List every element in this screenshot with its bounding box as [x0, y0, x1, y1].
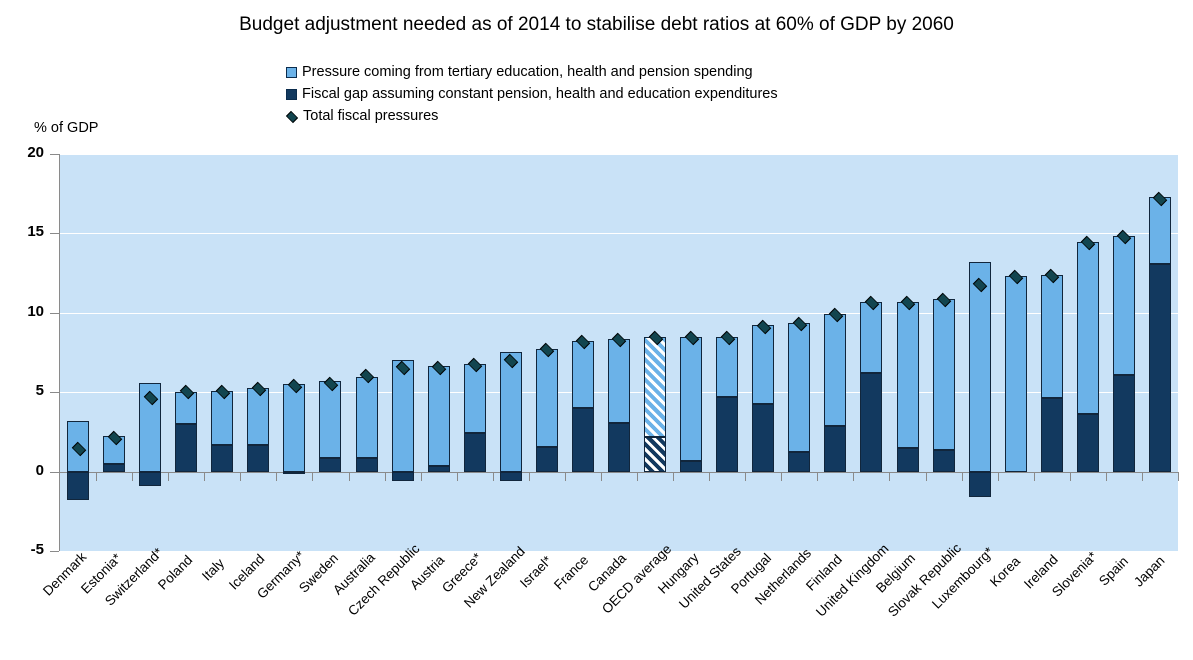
y-axis-title: % of GDP — [34, 120, 98, 136]
y-tick-10 — [50, 313, 59, 314]
total-fiscal-pressure-marker[interactable] — [251, 382, 266, 394]
bar-series-container — [60, 154, 1178, 551]
bar-segment-fiscal-gap[interactable] — [67, 472, 89, 501]
bar-group[interactable] — [204, 154, 240, 551]
x-tick — [709, 472, 710, 481]
total-fiscal-pressure-marker[interactable] — [648, 331, 663, 343]
total-fiscal-pressure-marker[interactable] — [720, 331, 735, 343]
total-fiscal-pressure-marker[interactable] — [323, 377, 338, 389]
bar-segment-pressure[interactable] — [716, 337, 738, 397]
bar-segment-fiscal-gap[interactable] — [824, 426, 846, 472]
bar-segment-fiscal-gap[interactable] — [356, 458, 378, 471]
diamond-marker-icon — [286, 110, 298, 122]
bar-group[interactable] — [1034, 154, 1070, 551]
bar-segment-fiscal-gap[interactable] — [933, 450, 955, 471]
bar-segment-pressure[interactable] — [536, 349, 558, 447]
bar-group[interactable] — [168, 154, 204, 551]
bar-group[interactable] — [493, 154, 529, 551]
total-fiscal-pressure-marker[interactable] — [828, 308, 843, 320]
x-axis-label-text: Slovenia* — [1049, 549, 1100, 600]
bar-group[interactable] — [1070, 154, 1106, 551]
bar-group[interactable] — [421, 154, 457, 551]
bar-segment-pressure[interactable] — [1149, 197, 1171, 264]
bar-segment-fiscal-gap[interactable] — [103, 464, 125, 472]
total-fiscal-pressure-marker[interactable] — [972, 278, 987, 290]
legend-item-total: Total fiscal pressures — [286, 106, 778, 126]
bar-group[interactable] — [709, 154, 745, 551]
bar-segment-pressure[interactable] — [572, 341, 594, 408]
bar-group[interactable] — [745, 154, 781, 551]
y-tick-label-20: 20 — [0, 144, 44, 161]
x-tick — [1070, 472, 1071, 481]
bar-group[interactable] — [240, 154, 276, 551]
bar-segment-pressure[interactable] — [1005, 276, 1027, 471]
bar-segment-pressure[interactable] — [897, 302, 919, 447]
x-tick — [421, 472, 422, 481]
x-tick — [312, 472, 313, 481]
x-tick — [962, 472, 963, 481]
bar-segment-pressure[interactable] — [500, 352, 522, 472]
bar-segment-fiscal-gap[interactable] — [500, 472, 522, 482]
bar-group[interactable] — [96, 154, 132, 551]
total-fiscal-pressure-marker[interactable] — [900, 296, 915, 308]
x-tick — [926, 472, 927, 481]
bar-segment-pressure[interactable] — [356, 377, 378, 458]
x-axis-label-text: Italy — [199, 555, 227, 583]
total-fiscal-pressure-marker[interactable] — [1008, 270, 1023, 282]
total-fiscal-pressure-marker[interactable] — [684, 331, 699, 343]
x-tick — [889, 472, 890, 481]
total-fiscal-pressure-marker[interactable] — [936, 293, 951, 305]
y-tick-label-0: 0 — [0, 462, 44, 479]
x-tick — [457, 472, 458, 481]
bar-segment-fiscal-gap[interactable] — [247, 445, 269, 471]
bar-group[interactable] — [962, 154, 998, 551]
bar-segment-fiscal-gap[interactable] — [860, 373, 882, 471]
bar-segment-fiscal-gap[interactable] — [464, 433, 486, 471]
x-axis-ticks — [60, 472, 1178, 473]
bar-group[interactable] — [132, 154, 168, 551]
x-tick — [1142, 472, 1143, 481]
y-tick-label-15: 15 — [0, 223, 44, 240]
x-tick — [132, 472, 133, 481]
bar-segment-fiscal-gap[interactable] — [1113, 375, 1135, 472]
total-fiscal-pressure-marker[interactable] — [864, 296, 879, 308]
bar-group[interactable] — [853, 154, 889, 551]
bar-group[interactable] — [889, 154, 925, 551]
y-tick-5 — [50, 392, 59, 393]
total-fiscal-pressure-marker[interactable] — [287, 379, 302, 391]
bar-segment-fiscal-gap[interactable] — [680, 461, 702, 471]
x-tick — [385, 472, 386, 481]
x-tick — [817, 472, 818, 481]
bar-group[interactable] — [529, 154, 565, 551]
bar-segment-pressure[interactable] — [247, 388, 269, 445]
bar-segment-pressure[interactable] — [608, 339, 630, 423]
bar-segment-pressure[interactable] — [788, 323, 810, 452]
x-tick — [493, 472, 494, 481]
x-axis-label: France — [551, 552, 591, 592]
x-tick — [1034, 472, 1035, 481]
light-square-swatch-icon — [286, 67, 297, 78]
bar-segment-fiscal-gap[interactable] — [969, 472, 991, 497]
bar-segment-pressure[interactable] — [464, 364, 486, 434]
x-tick — [745, 472, 746, 481]
y-tick-label-5: 5 — [0, 382, 44, 399]
x-axis-label-text: France — [551, 552, 591, 592]
bar-segment-fiscal-gap[interactable] — [139, 472, 161, 486]
bar-segment-fiscal-gap[interactable] — [1077, 414, 1099, 472]
legend-item-fiscal-gap: Fiscal gap assuming constant pension, he… — [286, 84, 778, 104]
total-fiscal-pressure-marker[interactable] — [1044, 269, 1059, 281]
bar-segment-pressure[interactable] — [1077, 242, 1099, 414]
bar-segment-fiscal-gap[interactable] — [572, 408, 594, 472]
x-tick — [601, 472, 602, 481]
total-fiscal-pressure-marker[interactable] — [359, 369, 374, 381]
x-axis-label: Denmark — [40, 549, 89, 598]
x-tick — [637, 472, 638, 481]
x-axis-label-text: Spain — [1096, 553, 1131, 588]
x-axis-label-text: Denmark — [40, 549, 89, 598]
x-tick — [529, 472, 530, 481]
total-fiscal-pressure-marker[interactable] — [1116, 230, 1131, 242]
x-tick — [1178, 472, 1179, 481]
bar-group[interactable] — [998, 154, 1034, 551]
x-tick — [998, 472, 999, 481]
total-fiscal-pressure-marker[interactable] — [107, 431, 122, 443]
total-fiscal-pressure-marker[interactable] — [1152, 192, 1167, 204]
bar-group[interactable] — [817, 154, 853, 551]
bar-segment-fiscal-gap[interactable] — [175, 424, 197, 472]
bar-segment-pressure[interactable] — [969, 262, 991, 472]
bar-segment-pressure[interactable] — [933, 299, 955, 450]
bar-segment-pressure[interactable] — [860, 302, 882, 373]
total-fiscal-pressure-marker[interactable] — [215, 385, 230, 397]
x-tick — [240, 472, 241, 481]
bar-group[interactable] — [349, 154, 385, 551]
total-fiscal-pressure-marker[interactable] — [395, 361, 410, 373]
bar-group[interactable] — [1142, 154, 1178, 551]
bar-segment-fiscal-gap[interactable] — [428, 466, 450, 472]
x-tick — [204, 472, 205, 481]
bar-group[interactable] — [1106, 154, 1142, 551]
bar-group[interactable] — [673, 154, 709, 551]
bar-segment-fiscal-gap[interactable] — [897, 448, 919, 472]
bar-segment-pressure[interactable] — [428, 366, 450, 466]
bar-segment-pressure[interactable] — [319, 381, 341, 458]
chart-legend: Pressure coming from tertiary education,… — [286, 62, 778, 128]
bar-group[interactable] — [637, 154, 673, 551]
x-tick — [168, 472, 169, 481]
total-fiscal-pressure-marker[interactable] — [1080, 236, 1095, 248]
bar-group[interactable] — [276, 154, 312, 551]
x-tick — [673, 472, 674, 481]
bar-group[interactable] — [926, 154, 962, 551]
x-tick — [565, 472, 566, 481]
bar-group[interactable] — [601, 154, 637, 551]
chart-root: Budget adjustment needed as of 2014 to s… — [0, 0, 1193, 660]
total-fiscal-pressure-marker[interactable] — [539, 343, 554, 355]
legend-label-fiscal-gap: Fiscal gap assuming constant pension, he… — [302, 86, 778, 102]
legend-label-pressure: Pressure coming from tertiary education,… — [302, 64, 753, 80]
chart-title: Budget adjustment needed as of 2014 to s… — [0, 14, 1193, 36]
bar-segment-pressure[interactable] — [644, 337, 666, 437]
bar-segment-fiscal-gap[interactable] — [752, 404, 774, 471]
bar-segment-pressure[interactable] — [211, 391, 233, 445]
bar-segment-fiscal-gap[interactable] — [1041, 398, 1063, 472]
y-axis-line — [59, 154, 60, 551]
bar-group[interactable] — [60, 154, 96, 551]
bar-segment-pressure[interactable] — [283, 384, 305, 471]
bar-segment-fiscal-gap[interactable] — [319, 458, 341, 471]
y-tick-label-10: 10 — [0, 303, 44, 320]
x-axis-label: Spain — [1096, 553, 1131, 588]
y-tick-20 — [50, 154, 59, 155]
bar-segment-pressure[interactable] — [752, 325, 774, 404]
total-fiscal-pressure-marker[interactable] — [575, 335, 590, 347]
bar-group[interactable] — [385, 154, 421, 551]
bar-group[interactable] — [565, 154, 601, 551]
dark-square-swatch-icon — [286, 89, 297, 100]
x-axis-label-text: Japan — [1131, 553, 1168, 590]
x-tick — [853, 472, 854, 481]
bar-segment-fiscal-gap[interactable] — [716, 397, 738, 472]
x-axis-label: Slovenia* — [1049, 549, 1100, 600]
bar-group[interactable] — [457, 154, 493, 551]
x-axis-label: Japan — [1131, 553, 1168, 590]
bar-segment-pressure[interactable] — [1041, 275, 1063, 398]
legend-label-total: Total fiscal pressures — [303, 108, 438, 124]
bar-segment-pressure[interactable] — [680, 337, 702, 462]
x-tick — [1106, 472, 1107, 481]
bar-segment-fiscal-gap[interactable] — [788, 452, 810, 472]
x-tick — [96, 472, 97, 481]
x-axis-labels: DenmarkEstonia*Switzerland*PolandItalyIc… — [0, 551, 1193, 660]
total-fiscal-pressure-marker[interactable] — [467, 358, 482, 370]
bar-segment-fiscal-gap[interactable] — [211, 445, 233, 472]
total-fiscal-pressure-marker[interactable] — [792, 317, 807, 329]
total-fiscal-pressure-marker[interactable] — [143, 391, 158, 403]
total-fiscal-pressure-marker[interactable] — [503, 354, 518, 366]
plot-area — [60, 154, 1178, 551]
legend-item-pressure: Pressure coming from tertiary education,… — [286, 62, 778, 82]
bar-segment-pressure[interactable] — [392, 360, 414, 472]
bar-segment-fiscal-gap[interactable] — [1149, 264, 1171, 472]
x-tick — [781, 472, 782, 481]
bar-group[interactable] — [312, 154, 348, 551]
bar-segment-pressure[interactable] — [1113, 236, 1135, 375]
bar-segment-fiscal-gap[interactable] — [644, 437, 666, 472]
total-fiscal-pressure-marker[interactable] — [179, 385, 194, 397]
total-fiscal-pressure-marker[interactable] — [431, 361, 446, 373]
bar-segment-fiscal-gap[interactable] — [536, 447, 558, 472]
bar-segment-fiscal-gap[interactable] — [608, 423, 630, 471]
x-tick — [276, 472, 277, 481]
total-fiscal-pressure-marker[interactable] — [71, 442, 86, 454]
y-tick-0 — [50, 472, 59, 473]
total-fiscal-pressure-marker[interactable] — [611, 333, 626, 345]
y-tick-15 — [50, 233, 59, 234]
total-fiscal-pressure-marker[interactable] — [756, 320, 771, 332]
x-tick — [349, 472, 350, 481]
bar-segment-pressure[interactable] — [824, 314, 846, 425]
bar-group[interactable] — [781, 154, 817, 551]
bar-segment-fiscal-gap[interactable] — [392, 472, 414, 482]
x-axis-label: Italy — [199, 555, 227, 583]
